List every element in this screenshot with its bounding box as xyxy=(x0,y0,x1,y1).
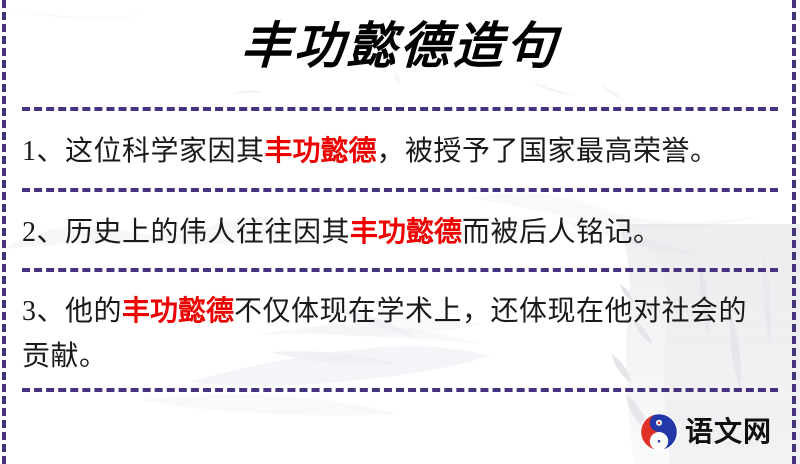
logo-text: 语文网 xyxy=(685,415,772,449)
sentence-1-number: 1、 xyxy=(22,136,65,167)
example-sentence-1: 1、这位科学家因其丰功懿德，被授予了国家最高荣誉。 xyxy=(22,128,770,174)
page-title: 丰功懿德造句 xyxy=(0,16,800,76)
sentence-1-before: 这位科学家因其 xyxy=(65,136,265,167)
example-sentence-3: 3、他的丰功懿德不仅体现在学术上，还体现在他对社会的贡献。 xyxy=(22,288,770,379)
example-sentence-2: 2、历史上的伟人往往因其丰功懿德而被后人铭记。 xyxy=(22,209,770,255)
sentence-1-idiom: 丰功懿德 xyxy=(265,134,377,167)
separator-bottom xyxy=(22,388,778,392)
sentence-3-number: 3、 xyxy=(22,296,65,327)
sentence-2-idiom: 丰功懿德 xyxy=(350,215,462,248)
slide-page: 丰功懿德造句 1、这位科学家因其丰功懿德，被授予了国家最高荣誉。 2、历史上的伟… xyxy=(0,0,800,464)
sentence-2-number: 2、 xyxy=(22,217,65,248)
sentence-1-after: ，被授予了国家最高荣誉。 xyxy=(377,136,719,167)
separator-2-3 xyxy=(22,268,778,272)
sentence-3-before: 他的 xyxy=(65,296,122,327)
separator-1-2 xyxy=(22,188,778,192)
sentence-2-after: 而被后人铭记。 xyxy=(462,217,662,248)
yin-yang-fish-icon xyxy=(639,412,679,452)
sentence-3-idiom: 丰功懿德 xyxy=(122,294,234,327)
sentence-2-before: 历史上的伟人往往因其 xyxy=(65,217,350,248)
site-logo[interactable]: 语文网 xyxy=(639,412,772,452)
separator-top xyxy=(22,107,778,111)
